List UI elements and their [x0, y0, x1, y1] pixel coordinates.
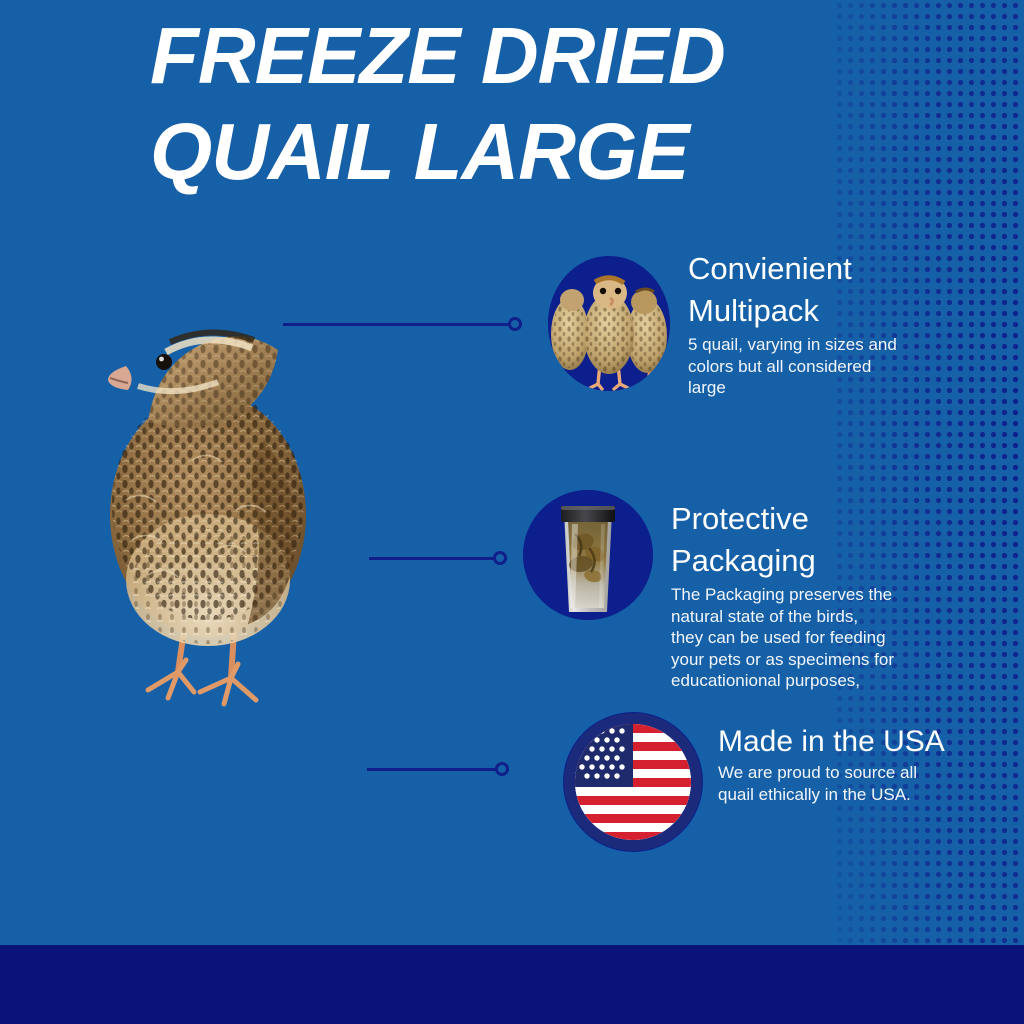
connector-line	[367, 762, 509, 776]
feature-heading: Protective Packaging	[671, 498, 921, 582]
quail-packaging-container-photo-icon	[523, 490, 653, 620]
feature-description: The Packaging preserves the natural stat…	[671, 584, 921, 692]
feature-text-multipack: Convienient Multipack 5 quail, varying i…	[688, 248, 943, 399]
feature-heading: Made in the USA	[718, 724, 978, 760]
connector-line	[369, 551, 507, 565]
feature-description: 5 quail, varying in sizes and colors but…	[688, 334, 943, 399]
connector-line-endpoint	[493, 551, 507, 565]
connector-line-stem	[367, 768, 509, 771]
feature-text-made-in-usa: Made in the USA We are proud to source a…	[718, 724, 978, 805]
bottom-accent-bar	[0, 945, 1024, 1024]
connector-line	[283, 317, 522, 331]
feature-text-packaging: Protective Packaging The Packaging prese…	[671, 498, 921, 692]
quail-photo	[96, 300, 328, 720]
connector-line-endpoint	[508, 317, 522, 331]
connector-line-stem	[283, 323, 522, 326]
connector-line-stem	[369, 557, 507, 560]
infographic-canvas: FREEZE DRIED QUAIL LARGE	[0, 0, 1024, 1024]
feature-description: We are proud to source all quail ethical…	[718, 762, 978, 805]
connector-line-endpoint	[495, 762, 509, 776]
three-quail-chicks-photo-icon	[548, 256, 670, 391]
feature-heading: Convienient Multipack	[688, 248, 943, 332]
page-title: FREEZE DRIED QUAIL LARGE	[150, 8, 990, 200]
usa-flag-icon	[563, 712, 703, 852]
